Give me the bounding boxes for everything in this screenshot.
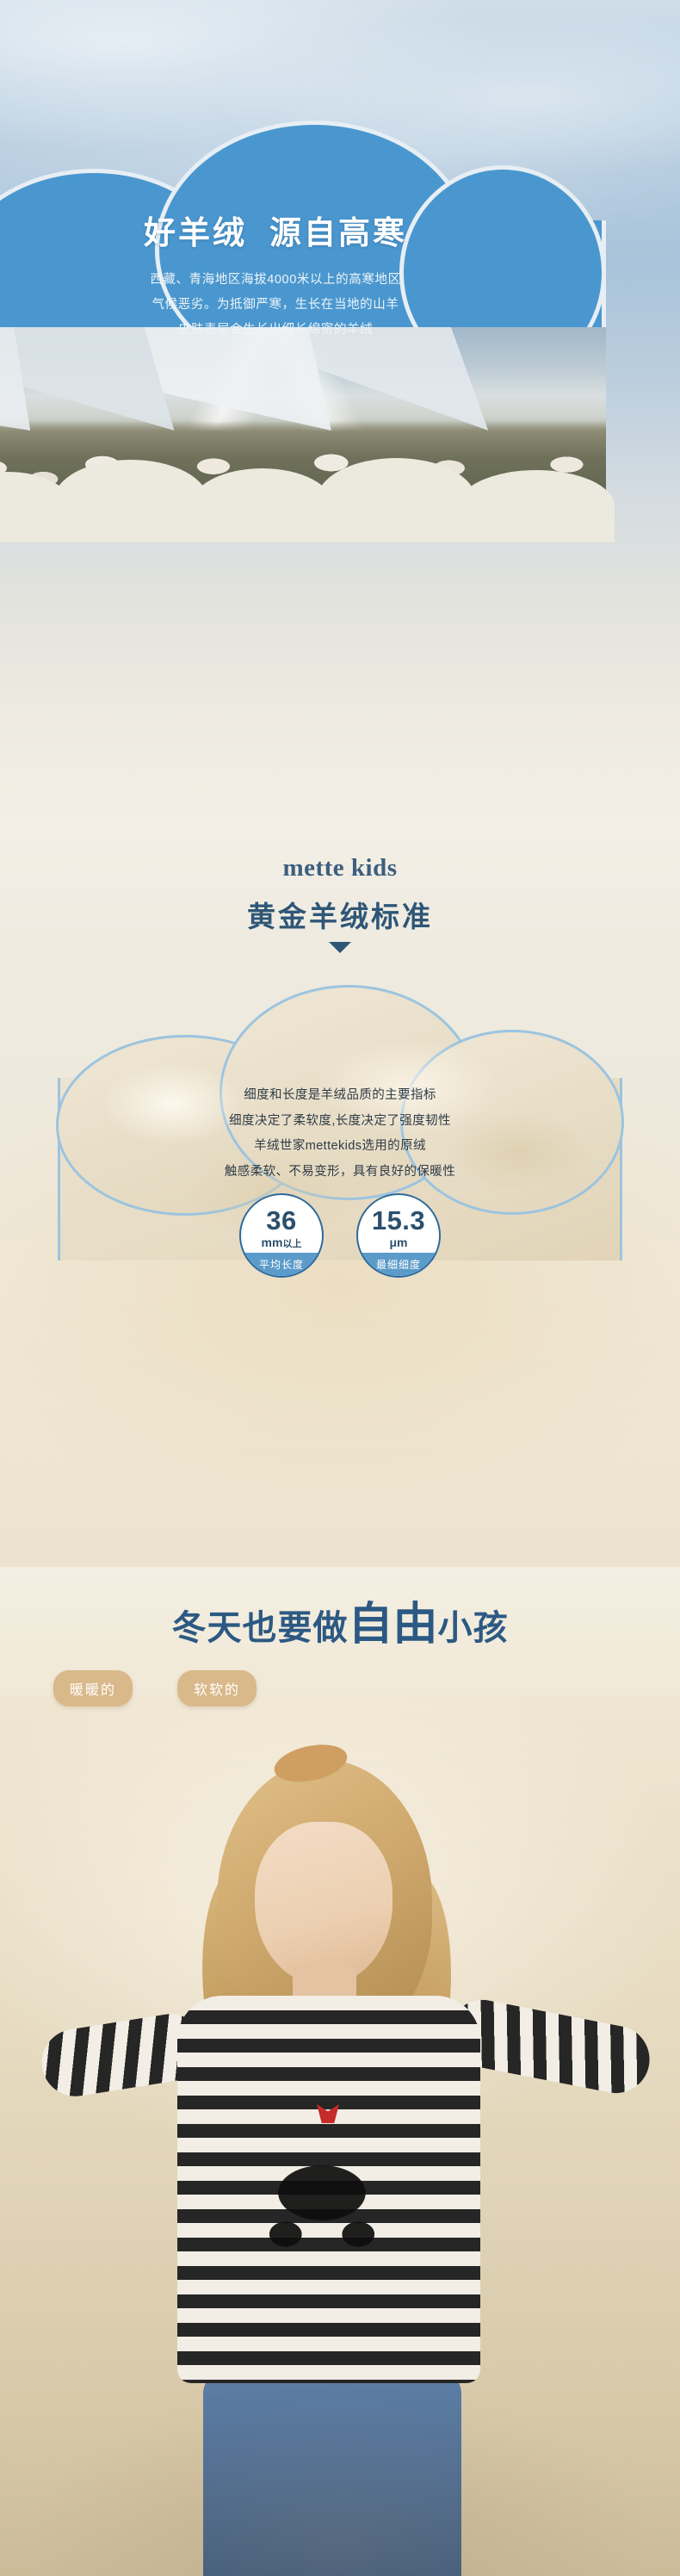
mountain-sheep-photo: [0, 327, 606, 508]
metric-badge-group: 36 mm以上 平均长度 15.3 μm 最细细度: [0, 1193, 680, 1278]
metric-fineness-value: 15.3: [372, 1207, 425, 1234]
section-golden-cashmere-standard: mette kids 黄金羊绒标准 细度和长度是羊绒品质的主要指标 细度决定了柔…: [0, 827, 680, 1567]
mountain-sheep-image: [0, 327, 606, 508]
metric-fineness-unit: μm: [389, 1235, 407, 1249]
metric-badge-fineness: 15.3 μm 最细细度: [356, 1193, 441, 1278]
lifestyle-title-part1: 冬天也要做: [171, 1609, 348, 1647]
standard-title: 黄金羊绒标准: [0, 894, 680, 935]
caret-down-icon: [329, 942, 351, 953]
lifestyle-title-part2: 自由: [348, 1600, 437, 1650]
metric-length-unit: mm以上: [262, 1235, 302, 1250]
standard-body: 细度和长度是羊绒品质的主要指标 细度决定了柔软度,长度决定了强度韧性 羊绒世家m…: [0, 1083, 680, 1186]
metric-length-caption: 平均长度: [241, 1253, 322, 1276]
metric-fineness-caption: 最细细度: [358, 1253, 439, 1276]
sky-title-left: 好羊绒: [144, 215, 247, 251]
sky-body: 西藏、青海地区海拔4000米以上的高寒地区 气候恶劣。为抵御严寒，生长在当地的山…: [0, 268, 551, 343]
metric-length-value: 36: [266, 1207, 296, 1234]
sweater-graphic-print: [246, 2144, 398, 2273]
metric-length-unit-main: mm: [262, 1235, 283, 1249]
lifestyle-photo: [0, 1696, 680, 2576]
feature-tag-soft: 软软的: [177, 1670, 257, 1706]
product-detail-page: 好羊绒源自高寒 西藏、青海地区海拔4000米以上的高寒地区 气候恶劣。为抵御严寒…: [0, 0, 680, 2576]
feature-tag-warm: 暖暖的: [53, 1670, 133, 1706]
sky-title: 好羊绒源自高寒: [0, 214, 551, 253]
sky-body-line-3: 皮肤表层会生长出细长绵密的羊绒: [0, 318, 551, 343]
lifestyle-title-part3: 小孩: [438, 1609, 509, 1647]
brand-logo-mette-kids: mette kids: [0, 854, 680, 882]
standard-body-line-4: 触感柔软、不易变形，具有良好的保暖性: [0, 1160, 680, 1186]
metric-length-unit-sub: 以上: [282, 1239, 301, 1249]
sky-body-line-2: 气候恶劣。为抵御严寒，生长在当地的山羊: [0, 293, 551, 318]
standard-body-line-3: 羊绒世家mettekids选用的原绒: [0, 1134, 680, 1160]
standard-body-line-2: 细度决定了柔软度,长度决定了强度韧性: [0, 1109, 680, 1135]
section-origin-highland: 好羊绒源自高寒 西藏、青海地区海拔4000米以上的高寒地区 气候恶劣。为抵御严寒…: [0, 0, 680, 827]
standard-body-line-1: 细度和长度是羊绒品质的主要指标: [0, 1083, 680, 1109]
model-jeans: [203, 2371, 461, 2576]
sky-body-line-1: 西藏、青海地区海拔4000米以上的高寒地区: [0, 268, 551, 293]
section-lifestyle: 冬天也要做自由小孩 暖暖的 软软的: [0, 1567, 680, 2576]
feature-tag-group: 暖暖的 软软的: [53, 1670, 257, 1706]
metric-badge-length: 36 mm以上 平均长度: [239, 1193, 324, 1278]
lifestyle-title: 冬天也要做自由小孩: [0, 1588, 680, 1652]
sky-text-block: 好羊绒源自高寒 西藏、青海地区海拔4000米以上的高寒地区 气候恶劣。为抵御严寒…: [0, 214, 551, 343]
sky-title-right: 源自高寒: [269, 215, 407, 251]
